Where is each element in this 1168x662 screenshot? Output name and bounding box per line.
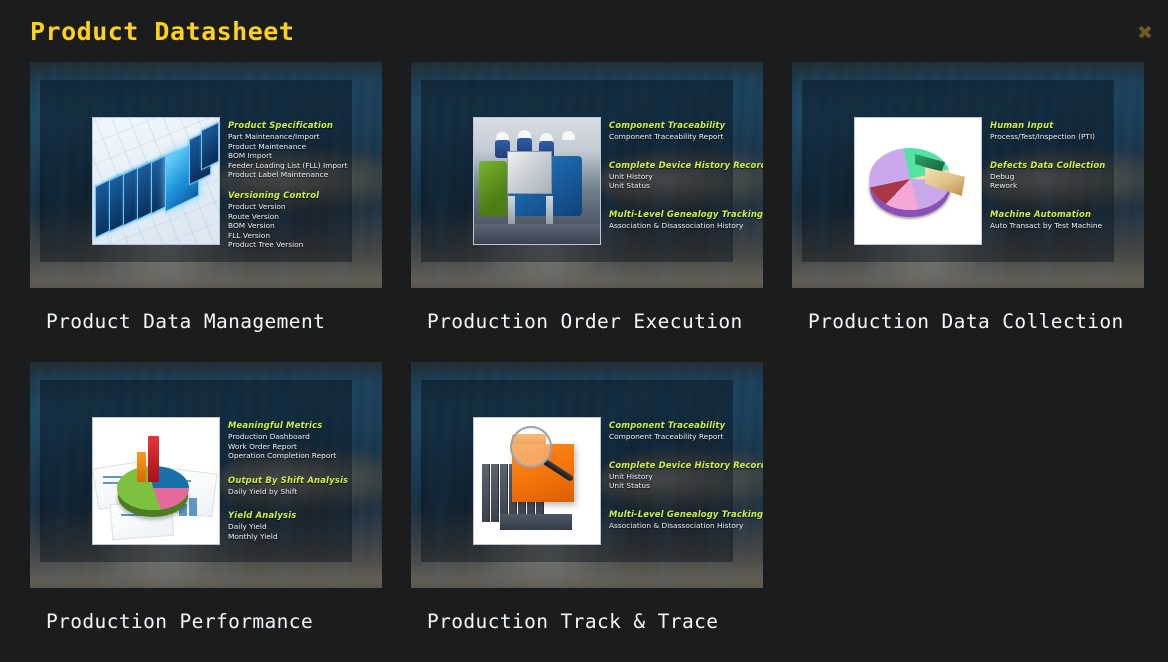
card-title: Production Order Execution	[411, 288, 763, 333]
feature-item: Component Traceability Report	[609, 132, 755, 142]
feature-item: Rework	[990, 181, 1136, 191]
pie-and-bar-chart-report-image	[92, 417, 220, 545]
feature-list: Component Traceability Component Traceab…	[609, 120, 755, 230]
feature-group: Complete Device History Record Unit Hist…	[609, 160, 755, 191]
feature-item: Monthly Yield	[228, 532, 374, 542]
feature-heading: Multi-Level Genealogy Tracking	[609, 209, 755, 219]
card-thumbnail[interactable]: Component Traceability Component Traceab…	[411, 62, 763, 288]
feature-item: Product Tree Version	[228, 240, 374, 250]
feature-heading: Human Input	[990, 120, 1136, 130]
card-thumbnail[interactable]: Human Input Process/Test/Inspection (PTI…	[792, 62, 1144, 288]
feature-item: Work Order Report	[228, 442, 374, 452]
feature-list: Human Input Process/Test/Inspection (PTI…	[990, 120, 1136, 230]
exploded-pie-chart-image	[854, 117, 982, 245]
feature-heading: Output By Shift Analysis	[228, 475, 374, 485]
feature-group: Versioning Control Product Version Route…	[228, 190, 374, 250]
feature-item: Association & Disassociation History	[609, 521, 755, 531]
feature-group: Meaningful Metrics Production Dashboard …	[228, 420, 374, 461]
card-title: Product Data Management	[30, 288, 382, 333]
feature-item: Route Version	[228, 212, 374, 222]
close-icon[interactable]: ✖	[1134, 22, 1156, 44]
feature-heading: Component Traceability	[609, 120, 755, 130]
feature-item: Daily Yield by Shift	[228, 487, 374, 497]
feature-item: FLL Version	[228, 231, 374, 241]
card-title: Production Performance	[30, 588, 382, 633]
grid-spacer	[792, 362, 1144, 363]
feature-item: Unit Status	[609, 481, 755, 491]
feature-heading: Product Specification	[228, 120, 374, 130]
card-production-data-collection[interactable]: Human Input Process/Test/Inspection (PTI…	[792, 62, 1144, 333]
feature-item: Auto Transact by Test Machine	[990, 221, 1136, 231]
feature-item: Debug	[990, 172, 1136, 182]
feature-item: Feeder Loading List (FLL) Import	[228, 161, 374, 171]
card-thumbnail[interactable]: Component Traceability Component Traceab…	[411, 362, 763, 588]
product-datasheet-page: Product Datasheet ✖	[0, 0, 1168, 662]
feature-item: Unit History	[609, 472, 755, 482]
card-thumbnail[interactable]: Product Specification Part Maintenance/I…	[30, 62, 382, 288]
feature-list: Meaningful Metrics Production Dashboard …	[228, 420, 374, 542]
feature-group: Product Specification Part Maintenance/I…	[228, 120, 374, 180]
feature-heading: Meaningful Metrics	[228, 420, 374, 430]
feature-list: Component Traceability Component Traceab…	[609, 420, 755, 530]
card-title: Production Data Collection	[792, 288, 1144, 333]
feature-group: Component Traceability Component Traceab…	[609, 420, 755, 442]
feature-item: Association & Disassociation History	[609, 221, 755, 231]
feature-heading: Yield Analysis	[228, 510, 374, 520]
feature-heading: Component Traceability	[609, 420, 755, 430]
feature-item: Part Maintenance/Import	[228, 132, 374, 142]
card-title: Production Track & Trace	[411, 588, 763, 633]
feature-group: Output By Shift Analysis Daily Yield by …	[228, 475, 374, 497]
card-thumbnail[interactable]: Meaningful Metrics Production Dashboard …	[30, 362, 382, 588]
feature-item: Component Traceability Report	[609, 432, 755, 442]
card-production-track-and-trace[interactable]: Component Traceability Component Traceab…	[411, 362, 763, 633]
feature-group: Component Traceability Component Traceab…	[609, 120, 755, 142]
feature-heading: Multi-Level Genealogy Tracking	[609, 509, 755, 519]
feature-group: Multi-Level Genealogy Tracking Associati…	[609, 509, 755, 531]
feature-heading: Machine Automation	[990, 209, 1136, 219]
feature-group: Multi-Level Genealogy Tracking Associati…	[609, 209, 755, 231]
feature-group: Yield Analysis Daily Yield Monthly Yield	[228, 510, 374, 541]
card-production-performance[interactable]: Meaningful Metrics Production Dashboard …	[30, 362, 382, 633]
feature-heading: Complete Device History Record	[609, 460, 755, 470]
feature-item: BOM Import	[228, 151, 374, 161]
feature-heading: Complete Device History Record	[609, 160, 755, 170]
card-production-order-execution[interactable]: Component Traceability Component Traceab…	[411, 62, 763, 333]
folder-magnifier-image	[473, 417, 601, 545]
factory-worker-machine-image	[473, 117, 601, 245]
feature-heading: Defects Data Collection	[990, 160, 1136, 170]
feature-item: Product Maintenance	[228, 142, 374, 152]
feature-item: Product Version	[228, 202, 374, 212]
feature-item: Production Dashboard	[228, 432, 374, 442]
feature-group: Complete Device History Record Unit Hist…	[609, 460, 755, 491]
feature-heading: Versioning Control	[228, 190, 374, 200]
feature-item: Process/Test/Inspection (PTI)	[990, 132, 1136, 142]
feature-item: Operation Completion Report	[228, 451, 374, 461]
feature-group: Defects Data Collection Debug Rework	[990, 160, 1136, 191]
card-product-data-management[interactable]: Product Specification Part Maintenance/I…	[30, 62, 382, 333]
feature-item: Unit Status	[609, 181, 755, 191]
feature-item: BOM Version	[228, 221, 374, 231]
datasheet-card-grid: Product Specification Part Maintenance/I…	[0, 62, 1168, 633]
feature-item: Product Label Maintenance	[228, 170, 374, 180]
page-header: Product Datasheet ✖	[0, 0, 1168, 62]
feature-item: Daily Yield	[228, 522, 374, 532]
feature-group: Machine Automation Auto Transact by Test…	[990, 209, 1136, 231]
feature-list: Product Specification Part Maintenance/I…	[228, 120, 374, 250]
feature-group: Human Input Process/Test/Inspection (PTI…	[990, 120, 1136, 142]
page-title: Product Datasheet	[30, 17, 294, 46]
stacked-circuit-boards-image	[92, 117, 220, 245]
feature-item: Unit History	[609, 172, 755, 182]
